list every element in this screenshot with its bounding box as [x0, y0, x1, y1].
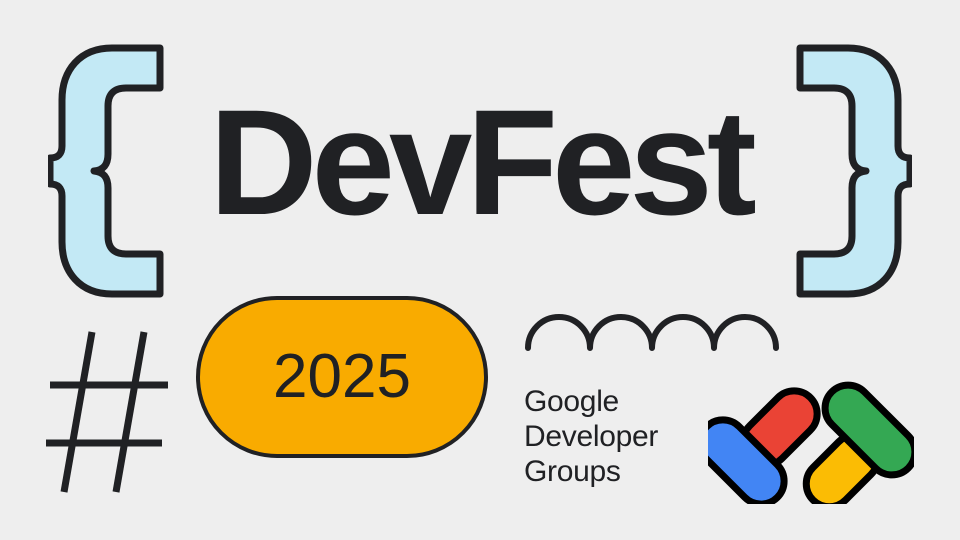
scallop-wave-icon — [524, 296, 792, 352]
gdg-lockup: Google Developer Groups — [524, 384, 914, 504]
gdg-wordmark-line-3: Groups — [524, 454, 704, 489]
devfest-poster: DevFest 2025 Google Developer Groups — [0, 0, 960, 540]
right-curly-brace-icon — [792, 42, 912, 300]
gdg-wordmark-line-2: Developer — [524, 419, 704, 454]
year-pill-badge[interactable]: 2025 — [196, 296, 488, 458]
devfest-wordmark-text: DevFest — [209, 78, 756, 246]
year-pill-label: 2025 — [273, 346, 411, 408]
gdg-wordmark-line-1: Google — [524, 384, 704, 419]
gdg-wordmark: Google Developer Groups — [524, 384, 704, 489]
left-curly-brace-icon — [48, 42, 168, 300]
hash-mark-icon — [44, 328, 174, 496]
devfest-wordmark: DevFest — [168, 76, 792, 266]
google-developer-groups-logo — [708, 378, 914, 504]
